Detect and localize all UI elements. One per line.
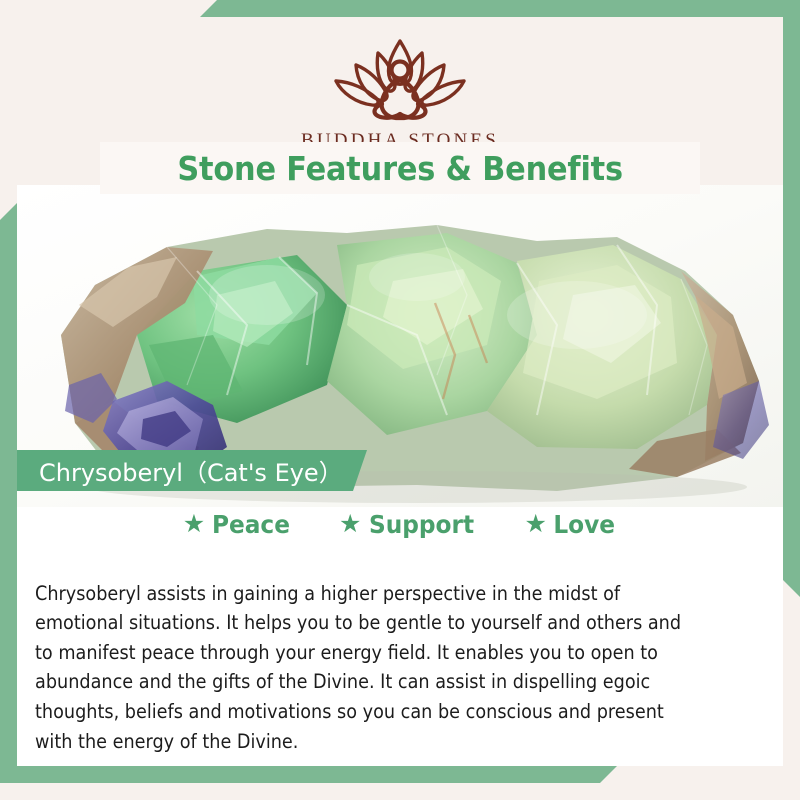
lotus-meditation-figure-icon: [316, 31, 484, 127]
benefits-row: ★ Peace ★ Support ★ Love: [17, 510, 783, 539]
star-icon: ★: [525, 512, 547, 537]
frame-band-top: [200, 0, 800, 17]
star-icon: ★: [339, 512, 361, 537]
stone-name: Chrysoberyl（Cat's Eye）: [17, 453, 343, 488]
benefit-label: Love: [553, 510, 615, 539]
frame-band-bottom: [0, 766, 617, 783]
poster-card: BUDDHA STONES Stone Features & Benefits: [17, 17, 783, 766]
benefit-label: Support: [369, 510, 474, 539]
benefit-item-support: ★ Support: [339, 510, 478, 539]
benefit-item-love: ★ Love: [525, 510, 618, 539]
stone-description: Chrysoberyl assists in gaining a higher …: [35, 579, 696, 757]
page-title-banner: Stone Features & Benefits: [100, 142, 700, 194]
frame-band-left: [0, 203, 17, 783]
stone-info-poster: BUDDHA STONES Stone Features & Benefits: [0, 0, 800, 800]
brand-logo: BUDDHA STONES: [17, 31, 783, 152]
benefit-label: Peace: [212, 510, 290, 539]
page-title: Stone Features & Benefits: [177, 149, 623, 188]
star-icon: ★: [183, 512, 205, 537]
frame-band-right: [783, 17, 800, 597]
stone-name-ribbon: Chrysoberyl（Cat's Eye）: [17, 450, 367, 491]
benefit-item-peace: ★ Peace: [183, 510, 293, 539]
